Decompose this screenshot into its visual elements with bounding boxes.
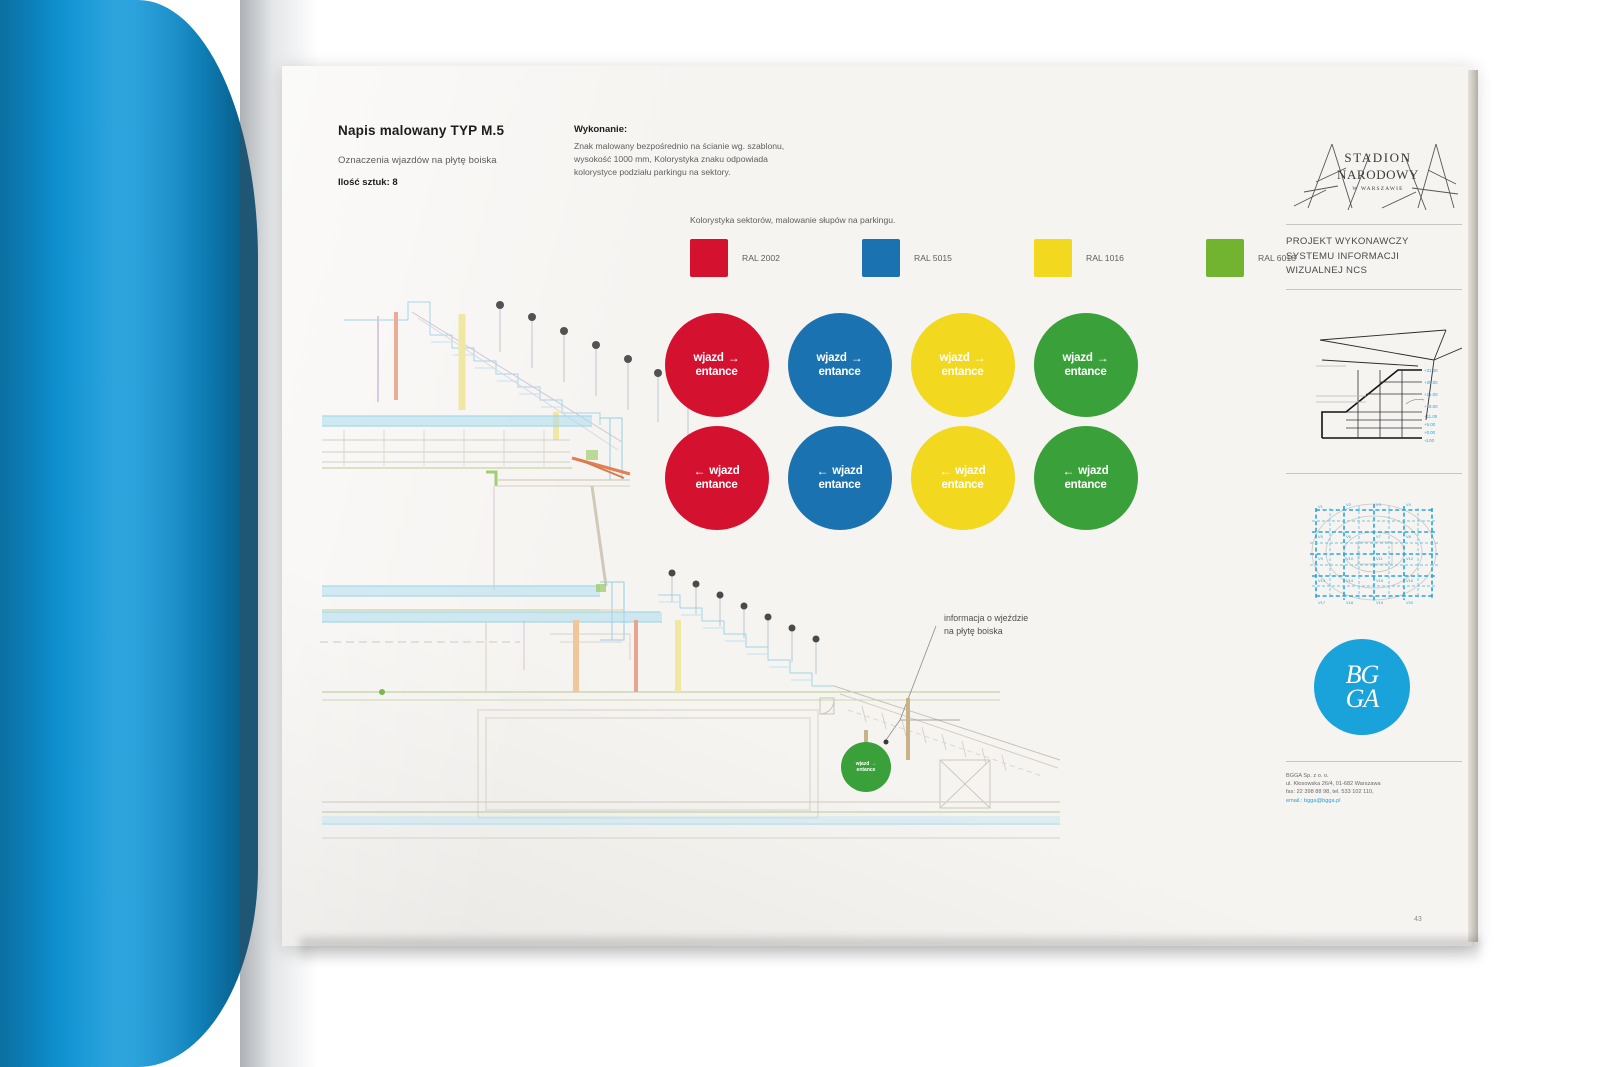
svg-text:V7: V7 xyxy=(1376,534,1382,539)
legend-label: RAL 5015 xyxy=(914,253,952,263)
svg-text:+21.00: +21.00 xyxy=(1424,392,1438,397)
svg-text:V6: V6 xyxy=(1346,534,1352,539)
legend-row: RAL 2002RAL 5015RAL 1016RAL 6018 xyxy=(690,239,1378,277)
legend-swatch xyxy=(690,239,728,277)
svg-text:V15: V15 xyxy=(1376,578,1384,583)
sidebar-divider-top xyxy=(1286,224,1462,225)
svg-text:+31.00: +31.00 xyxy=(1424,368,1438,373)
arrow-left-icon: ← xyxy=(816,465,828,477)
sign-circle-green-right: wjazd→entance xyxy=(1034,313,1138,417)
sheet-subtitle: Oznaczenia wjazdów na płytę boiska xyxy=(338,155,497,166)
footer-address: ul. Kłosowska 26/4, 01-682 Warszawa xyxy=(1286,780,1462,788)
screenshot-root: Napis malowany TYP M.5 Oznaczenia wjazdó… xyxy=(0,0,1600,1067)
sign-line-primary: wjazd→ xyxy=(939,351,985,365)
left-page-shading xyxy=(0,0,258,1067)
sheet-title: Napis malowany TYP M.5 xyxy=(338,123,504,138)
svg-text:+11.00: +11.00 xyxy=(1424,414,1438,419)
svg-text:V8: V8 xyxy=(1406,534,1412,539)
sign-label-pl: wjazd xyxy=(693,351,723,365)
footer-contact: BGGA Sp. z o. o. ul. Kłosowska 26/4, 01-… xyxy=(1286,772,1462,806)
stadion-logo-line-1: STADION xyxy=(1320,150,1436,166)
legend-caption: Kolorystyka sektorów, malowanie słupów n… xyxy=(690,215,895,225)
sign-label-en: entance xyxy=(941,478,983,492)
sidebar-divider-mid xyxy=(1286,289,1462,290)
svg-text:V10: V10 xyxy=(1346,556,1354,561)
svg-text:V13: V13 xyxy=(1318,578,1326,583)
sign-cell: wjazd→entance xyxy=(778,308,901,421)
sign-label-pl: wjazd xyxy=(1062,351,1092,365)
sign-circle-blue-left: ←wjazdentance xyxy=(788,426,892,530)
sign-circle-red-left: ←wjazdentance xyxy=(665,426,769,530)
sign-label-en: entance xyxy=(1064,365,1106,379)
arrow-left-icon: ← xyxy=(1062,465,1074,477)
callout-line-2: na płytę boiska xyxy=(944,625,1028,638)
svg-text:V14: V14 xyxy=(1346,578,1354,583)
section-level-labels: +31.00 +26.00 +21.00 +16.00 +11.00 +6.00… xyxy=(1424,368,1438,443)
project-title-line-1: PROJEKT WYKONAWCZY xyxy=(1286,235,1462,250)
bgga-logo-line-2: GA xyxy=(1346,687,1379,711)
legend-swatch xyxy=(1034,239,1072,277)
svg-text:V2: V2 xyxy=(1346,502,1352,507)
sign-label-en: entance xyxy=(941,365,983,379)
project-title-line-3: WIZUALNEJ NCS xyxy=(1286,264,1462,279)
svg-text:V17: V17 xyxy=(1318,600,1326,605)
svg-text:-4.00: -4.00 xyxy=(1424,438,1435,443)
project-title-line-2: SYSTEMU INFORMACJI xyxy=(1286,250,1462,265)
bgga-logo-text: BG GA xyxy=(1314,639,1410,735)
sign-cell: wjazd→entance xyxy=(1024,308,1147,421)
sign-label-en: entance xyxy=(818,365,860,379)
sign-label-pl: wjazd xyxy=(832,464,862,478)
spec-heading: Wykonanie: xyxy=(574,124,627,135)
sign-cell: ←wjazdentance xyxy=(655,421,778,534)
arrow-right-icon: → xyxy=(974,352,986,364)
sign-line-primary: ←wjazd xyxy=(816,464,862,478)
sign-grid: wjazd→entancewjazd→entancewjazd→entancew… xyxy=(655,308,1147,534)
legend-label: RAL 1016 xyxy=(1086,253,1124,263)
sign-label-pl: wjazd xyxy=(939,351,969,365)
sidebar: STADION NARODOWY W WARSZAWIE PROJEKT WYK… xyxy=(1286,90,1462,805)
legend-item: RAL 2002 xyxy=(690,239,862,277)
legend-label: RAL 2002 xyxy=(742,253,780,263)
sidebar-divider-thumb xyxy=(1286,473,1462,474)
arrow-left-icon: ← xyxy=(693,465,705,477)
sheet-quantity: Ilość sztuk: 8 xyxy=(338,177,398,188)
sign-line-primary: ←wjazd xyxy=(939,464,985,478)
svg-text:+6.00: +6.00 xyxy=(1424,422,1436,427)
sign-circle-yellow-left: ←wjazdentance xyxy=(911,426,1015,530)
svg-text:V4: V4 xyxy=(1406,502,1412,507)
footer-email[interactable]: email.: bgga@bgga.pl xyxy=(1286,797,1462,805)
svg-text:V1: V1 xyxy=(1318,504,1324,509)
stadion-logo-line-3: W WARSZAWIE xyxy=(1320,186,1436,192)
arrow-right-icon: → xyxy=(1097,352,1109,364)
footer-company: BGGA Sp. z o. o. xyxy=(1286,772,1462,780)
legend-swatch xyxy=(1206,239,1244,277)
page-edge xyxy=(1468,70,1478,942)
sign-line-primary: ←wjazd xyxy=(693,464,739,478)
stadium-plan-thumbnail: V1V2 V3V4 V5V6 V7V8 V9V10 V11V12 V13V14 … xyxy=(1286,492,1462,617)
page-bottom-shadow xyxy=(300,938,1480,964)
spec-body: Znak malowany bezpośrednio na ścianie wg… xyxy=(574,140,804,180)
svg-text:+16.00: +16.00 xyxy=(1424,404,1438,409)
page-number: 43 xyxy=(1414,916,1422,923)
sidebar-divider-footer xyxy=(1286,761,1462,762)
sign-label-en: entance xyxy=(818,478,860,492)
bgga-logo: BG GA xyxy=(1314,639,1410,735)
sign-label-pl: wjazd xyxy=(709,464,739,478)
drawing-callout: informacja o wjeździe na płytę boiska xyxy=(944,612,1028,638)
arrow-left-icon: ← xyxy=(939,465,951,477)
inline-sign-green: wjazd → entance xyxy=(841,742,891,792)
svg-text:V9: V9 xyxy=(1318,556,1324,561)
svg-text:V3: V3 xyxy=(1376,502,1382,507)
svg-text:+26.00: +26.00 xyxy=(1424,380,1438,385)
stadion-logo-line-2: NARODOWY xyxy=(1320,167,1436,183)
footer-phone: fax: 22 398 88 98, tel. 533 102 110, xyxy=(1286,788,1462,796)
sign-cell: ←wjazdentance xyxy=(778,421,901,534)
svg-text:V19: V19 xyxy=(1376,600,1384,605)
sign-cell: ←wjazdentance xyxy=(1024,421,1147,534)
sign-label-pl: wjazd xyxy=(955,464,985,478)
legend-swatch xyxy=(862,239,900,277)
svg-text:V20: V20 xyxy=(1406,600,1414,605)
sign-label-en: entance xyxy=(695,478,737,492)
svg-text:+0.00: +0.00 xyxy=(1424,430,1436,435)
sign-circle-blue-right: wjazd→entance xyxy=(788,313,892,417)
sign-cell: wjazd→entance xyxy=(655,308,778,421)
callout-line-1: informacja o wjeździe xyxy=(944,612,1028,625)
sign-line-primary: wjazd→ xyxy=(693,351,739,365)
svg-text:V18: V18 xyxy=(1346,600,1354,605)
sign-label-pl: wjazd xyxy=(1078,464,1108,478)
arrow-right-icon: → xyxy=(851,352,863,364)
arrow-right-icon: → xyxy=(728,352,740,364)
sign-label-en: entance xyxy=(1064,478,1106,492)
sign-circle-green-left: ←wjazdentance xyxy=(1034,426,1138,530)
svg-text:V5: V5 xyxy=(1318,534,1324,539)
sign-line-primary: ←wjazd xyxy=(1062,464,1108,478)
sign-line-primary: wjazd→ xyxy=(816,351,862,365)
bgga-logo-line-1: BG xyxy=(1346,663,1379,687)
sign-circle-red-right: wjazd→entance xyxy=(665,313,769,417)
sign-cell: wjazd→entance xyxy=(901,308,1024,421)
sign-label-en: entance xyxy=(695,365,737,379)
svg-text:V16: V16 xyxy=(1406,578,1414,583)
stadion-logo-text: STADION NARODOWY W WARSZAWIE xyxy=(1320,150,1436,192)
stadion-narodowy-logo: STADION NARODOWY W WARSZAWIE xyxy=(1286,138,1462,214)
inline-sign-line-2: entance xyxy=(857,767,876,774)
sign-circle-yellow-right: wjazd→entance xyxy=(911,313,1015,417)
sign-line-primary: wjazd→ xyxy=(1062,351,1108,365)
sign-label-pl: wjazd xyxy=(816,351,846,365)
sign-cell: ←wjazdentance xyxy=(901,421,1024,534)
legend-item: RAL 5015 xyxy=(862,239,1034,277)
project-title: PROJEKT WYKONAWCZY SYSTEMU INFORMACJI WI… xyxy=(1286,235,1462,279)
svg-text:V12: V12 xyxy=(1406,556,1414,561)
svg-text:V11: V11 xyxy=(1376,556,1384,561)
legend-item: RAL 1016 xyxy=(1034,239,1206,277)
stadium-section-thumbnail: +31.00 +26.00 +21.00 +16.00 +11.00 +6.00… xyxy=(1286,308,1462,463)
